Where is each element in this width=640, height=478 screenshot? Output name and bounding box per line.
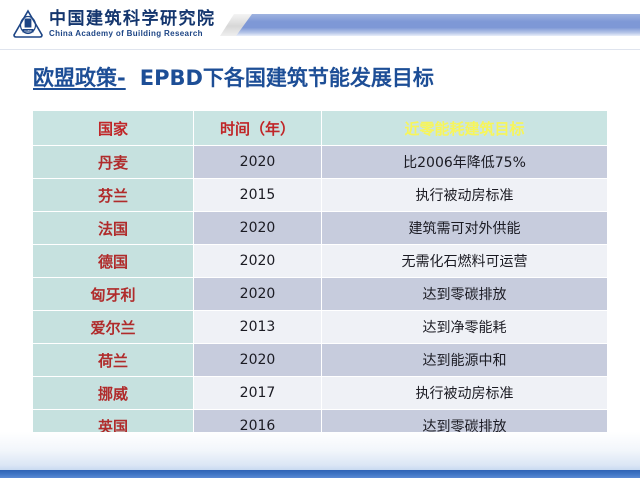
table-header-row: 国家 时间（年） 近零能耗建筑目标 bbox=[33, 111, 607, 145]
cell-country: 爱尔兰 bbox=[33, 311, 193, 343]
cell-country: 丹麦 bbox=[33, 146, 193, 178]
logo-english-name: China Academy of Building Research bbox=[49, 30, 216, 38]
cabr-shield-logo-icon: CABR bbox=[12, 9, 44, 39]
cell-goal: 无需化石燃料可运营 bbox=[321, 245, 607, 277]
policy-table: 国家 时间（年） 近零能耗建筑目标 丹麦 2020 比2006年降低75% 芬兰… bbox=[33, 110, 607, 443]
logo-chinese-name: 中国建筑科学研究院 bbox=[49, 11, 216, 28]
svg-text:CABR: CABR bbox=[24, 29, 31, 33]
cell-goal: 建筑需可对外供能 bbox=[321, 212, 607, 244]
cell-country: 匈牙利 bbox=[33, 278, 193, 310]
cell-year: 2020 bbox=[193, 344, 321, 376]
page-title: 欧盟政策-EPBD下各国建筑节能发展目标 bbox=[33, 62, 607, 92]
table-row: 爱尔兰 2013 达到净零能耗 bbox=[33, 311, 607, 343]
cell-country: 芬兰 bbox=[33, 179, 193, 211]
table-row: 匈牙利 2020 达到零碳排放 bbox=[33, 278, 607, 310]
page-title-highlight: 欧盟政策- bbox=[33, 66, 126, 90]
column-header-goal: 近零能耗建筑目标 bbox=[321, 111, 607, 145]
table-row: 荷兰 2020 达到能源中和 bbox=[33, 344, 607, 376]
cell-goal: 达到零碳排放 bbox=[321, 278, 607, 310]
brand-logo: CABR 中国建筑科学研究院 China Academy of Building… bbox=[12, 9, 216, 39]
table-row: 芬兰 2015 执行被动房标准 bbox=[33, 179, 607, 211]
cell-goal: 执行被动房标准 bbox=[321, 179, 607, 211]
table-body: 丹麦 2020 比2006年降低75% 芬兰 2015 执行被动房标准 法国 2… bbox=[33, 146, 607, 442]
cell-year: 2020 bbox=[193, 146, 321, 178]
table-row: 法国 2020 建筑需可对外供能 bbox=[33, 212, 607, 244]
column-header-country: 国家 bbox=[33, 111, 193, 145]
header-divider bbox=[0, 49, 640, 50]
cell-year: 2020 bbox=[193, 278, 321, 310]
table-row: 德国 2020 无需化石燃料可运营 bbox=[33, 245, 607, 277]
cell-year: 2020 bbox=[193, 212, 321, 244]
footer-accent-line bbox=[0, 470, 640, 478]
cell-goal: 执行被动房标准 bbox=[321, 377, 607, 409]
cell-goal: 达到能源中和 bbox=[321, 344, 607, 376]
table-row: 挪威 2017 执行被动房标准 bbox=[33, 377, 607, 409]
cell-year: 2020 bbox=[193, 245, 321, 277]
slide-canvas: CABR 中国建筑科学研究院 China Academy of Building… bbox=[0, 0, 640, 478]
cell-year: 2013 bbox=[193, 311, 321, 343]
column-header-year: 时间（年） bbox=[193, 111, 321, 145]
page-title-rest: EPBD下各国建筑节能发展目标 bbox=[140, 66, 434, 90]
cell-goal: 比2006年降低75% bbox=[321, 146, 607, 178]
header-accent-blue-bar bbox=[236, 14, 640, 36]
cell-country: 法国 bbox=[33, 212, 193, 244]
cell-goal: 达到净零能耗 bbox=[321, 311, 607, 343]
cell-country: 挪威 bbox=[33, 377, 193, 409]
cell-year: 2017 bbox=[193, 377, 321, 409]
cell-year: 2015 bbox=[193, 179, 321, 211]
cell-country: 德国 bbox=[33, 245, 193, 277]
table-row: 丹麦 2020 比2006年降低75% bbox=[33, 146, 607, 178]
slide-header: CABR 中国建筑科学研究院 China Academy of Building… bbox=[0, 0, 640, 56]
cell-country: 荷兰 bbox=[33, 344, 193, 376]
